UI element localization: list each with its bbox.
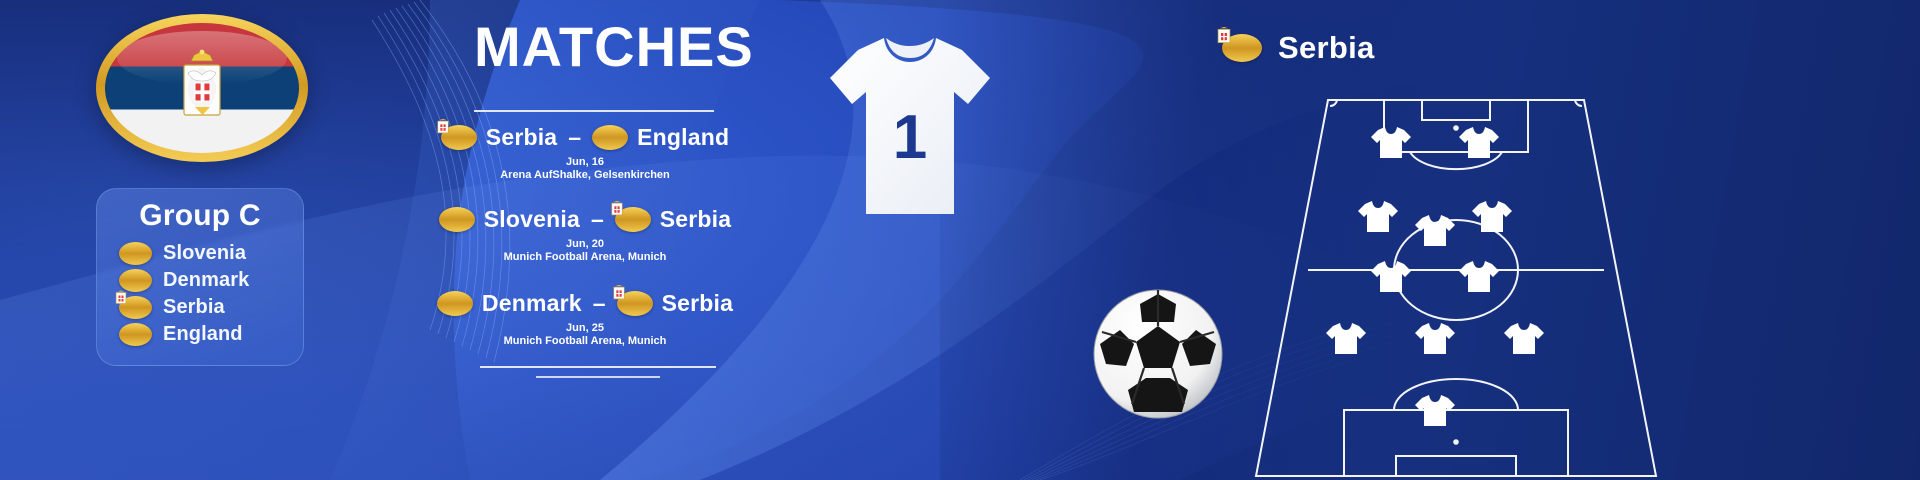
matches-divider-bottom-2 [536, 376, 660, 378]
match-venue: Arena AufShalke, Gelsenkirchen [440, 169, 730, 181]
football-icon [1090, 286, 1226, 422]
serbia-crest-badge [96, 14, 308, 162]
match-separator: – [566, 124, 583, 151]
matches-heading: MATCHES [474, 14, 720, 79]
match-away-team: England [637, 124, 729, 151]
serbia-formation-pitch [1236, 80, 1676, 480]
serbia-flag-icon [441, 125, 477, 150]
match-separator: – [591, 290, 608, 317]
match-row[interactable]: Slovenia – Serbia Jun, 20 Munich Footbal… [440, 206, 730, 263]
match-home-team: Slovenia [484, 206, 580, 233]
squad-country-label: Serbia [1278, 30, 1375, 66]
player-shirt-cb[interactable] [1414, 320, 1456, 356]
denmark-flag-icon [437, 291, 473, 316]
match-row[interactable]: Serbia – England Jun, 16 Arena AufShalke… [440, 124, 730, 181]
serbia-flag-icon [617, 291, 653, 316]
player-shirt-rcm[interactable] [1471, 198, 1513, 234]
pitch-lines [1236, 80, 1676, 480]
group-team-england[interactable]: England [119, 321, 303, 348]
player-shirt-lcm[interactable] [1357, 198, 1399, 234]
group-team-label: Slovenia [163, 242, 246, 265]
group-team-list: Slovenia Denmark [97, 240, 303, 348]
group-panel: Group C Slovenia Denmark [96, 188, 304, 366]
player-shirt-gk[interactable] [1414, 392, 1456, 428]
matches-divider-top [474, 110, 714, 112]
match-venue: Munich Football Arena, Munich [440, 335, 730, 347]
player-shirt-cm[interactable] [1414, 212, 1456, 248]
goalkeeper-jersey: 1 [822, 24, 998, 224]
match-home-team: Serbia [486, 124, 558, 151]
match-row[interactable]: Denmark – Serbia Jun, 25 Munich Football… [440, 290, 730, 347]
match-venue: Munich Football Arena, Munich [440, 251, 730, 263]
player-shirt-lf[interactable] [1370, 124, 1412, 160]
group-team-label: Denmark [163, 269, 249, 292]
match-separator: – [589, 206, 606, 233]
matches-divider-bottom [480, 366, 716, 368]
match-away-team: Serbia [660, 206, 732, 233]
group-team-label: Serbia [163, 296, 225, 319]
serbia-flag-icon [615, 207, 651, 232]
player-shirt-rf[interactable] [1458, 124, 1500, 160]
group-title: Group C [97, 199, 303, 233]
slovenia-flag-icon [119, 242, 152, 265]
serbia-coat-of-arms-icon [171, 47, 233, 129]
player-shirt-rwb[interactable] [1458, 258, 1500, 294]
squad-header: Serbia [1222, 30, 1375, 66]
england-flag-icon [592, 125, 628, 150]
player-shirt-lwb[interactable] [1370, 258, 1412, 294]
denmark-flag-icon [119, 269, 152, 292]
match-date: Jun, 25 [440, 322, 730, 334]
match-away-team: Serbia [662, 290, 734, 317]
slovenia-flag-icon [439, 207, 475, 232]
jersey-number: 1 [822, 102, 998, 173]
england-flag-icon [119, 323, 152, 346]
group-team-serbia[interactable]: Serbia [119, 294, 303, 321]
match-home-team: Denmark [482, 290, 582, 317]
match-date: Jun, 20 [440, 238, 730, 250]
match-date: Jun, 16 [440, 156, 730, 168]
group-team-denmark[interactable]: Denmark [119, 267, 303, 294]
group-team-slovenia[interactable]: Slovenia [119, 240, 303, 267]
serbia-flag-icon [1222, 34, 1262, 62]
player-shirt-rb[interactable] [1503, 320, 1545, 356]
serbia-flag-icon [119, 296, 152, 319]
poster-canvas: Group C Slovenia Denmark [0, 0, 1920, 480]
player-shirt-lb[interactable] [1325, 320, 1367, 356]
group-team-label: England [163, 323, 243, 346]
